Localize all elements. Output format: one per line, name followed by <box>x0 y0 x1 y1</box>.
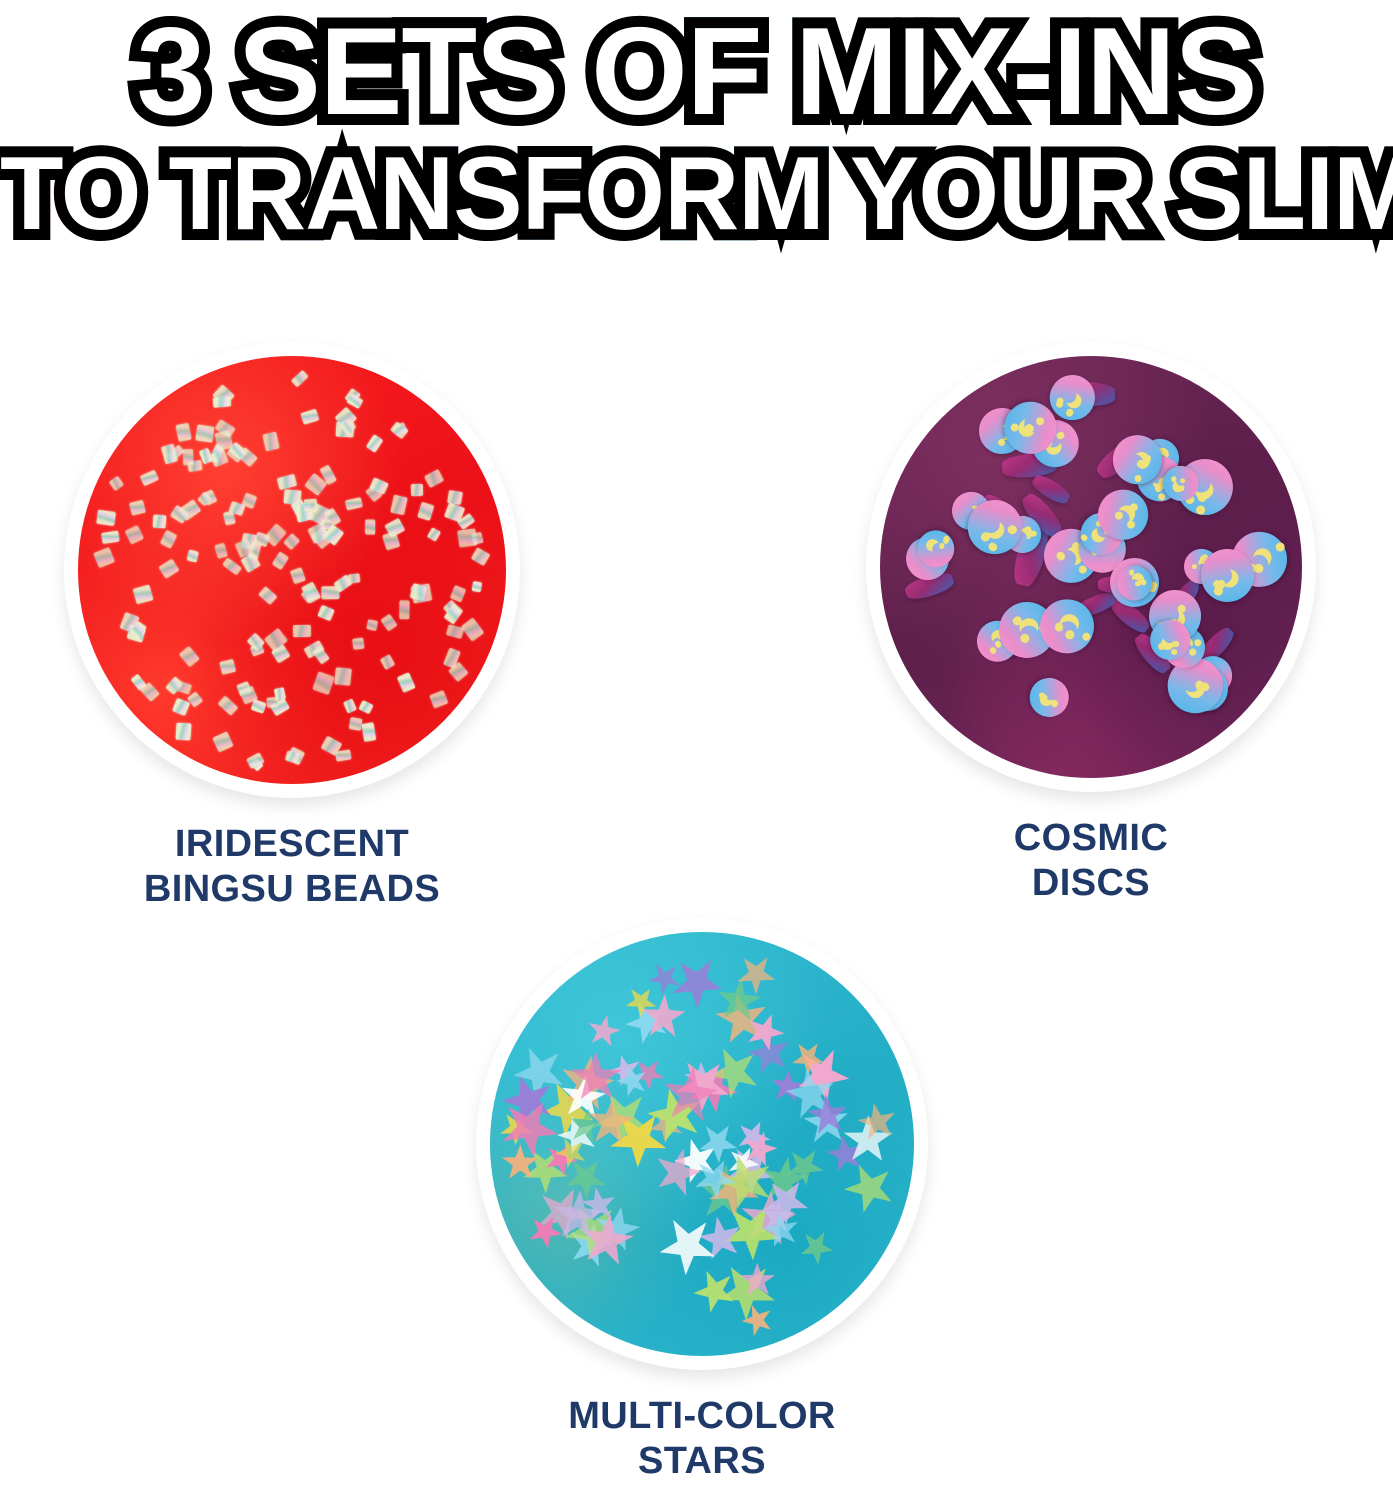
bingsu-bead <box>214 543 227 559</box>
bingsu-bead <box>165 676 183 695</box>
bingsu-bead <box>153 514 167 528</box>
bingsu-bead <box>187 550 199 563</box>
bingsu-bead <box>293 625 312 637</box>
bingsu-bead <box>410 583 432 603</box>
bingsu-bead <box>429 690 448 708</box>
star-icon <box>1171 648 1177 654</box>
bingsu-bead <box>312 672 334 695</box>
star-icon <box>1009 421 1020 432</box>
bingsu-bead <box>472 581 483 592</box>
swatch-label-stars-line1: MULTI-COLOR <box>476 1394 928 1439</box>
star-icon <box>1082 632 1091 641</box>
bingsu-bead <box>259 586 278 604</box>
bingsu-bead <box>352 637 364 649</box>
bingsu-bead <box>159 559 180 580</box>
bingsu-bead <box>390 495 408 515</box>
confetti-star <box>658 1218 717 1277</box>
swatch-cosmic-discs: COSMIC DISCS <box>866 342 1316 906</box>
bingsu-bead <box>334 667 352 686</box>
headline-banner: 3 SETS OF MIX-INS 3 SETS OF MIX-INS TO T… <box>0 0 1393 270</box>
bingsu-bead <box>348 718 362 731</box>
star-icon <box>1128 569 1135 576</box>
bingsu-bead <box>218 695 239 715</box>
slime-sample-purple <box>880 356 1302 778</box>
bingsu-bead <box>93 547 115 568</box>
bingsu-bead <box>301 582 321 604</box>
bingsu-bead <box>470 547 489 566</box>
swatch-label-stars-line2: STARS <box>476 1439 928 1484</box>
star-icon <box>1159 643 1165 649</box>
swatch-multi-color-stars: MULTI-COLOR STARS <box>476 918 928 1484</box>
bingsu-bead <box>359 700 374 714</box>
bingsu-bead <box>417 502 434 521</box>
bingsu-bead <box>424 469 444 488</box>
star-icon <box>1066 408 1076 418</box>
star-icon <box>1140 579 1147 586</box>
swatch-disc-bingsu <box>64 342 520 798</box>
star-icon <box>1178 484 1185 491</box>
bingsu-bead <box>212 731 233 752</box>
star-icon <box>1196 492 1209 505</box>
star-icon <box>1133 474 1144 485</box>
bingsu-bead <box>274 687 287 701</box>
headline-line2: TO TRANSFORM YOUR SLIME <box>0 142 1393 246</box>
bingsu-bead <box>366 619 378 631</box>
bingsu-bead <box>365 434 383 453</box>
bingsu-bead <box>447 490 463 505</box>
bingsu-bead <box>132 584 153 604</box>
bingsu-bead <box>343 698 357 713</box>
bingsu-bead <box>183 449 194 465</box>
star-icon <box>1128 502 1139 513</box>
bingsu-bead <box>283 489 301 505</box>
star-icon <box>1030 530 1038 538</box>
bingsu-bead <box>346 393 364 409</box>
bingsu-bead <box>130 500 146 516</box>
bingsu-bead <box>397 673 415 693</box>
swatch-label-stars: MULTI-COLOR STARS <box>476 1394 928 1484</box>
bingsu-bead <box>345 497 363 510</box>
swatch-disc-cosmic <box>866 342 1316 792</box>
bingsu-bead <box>283 533 300 550</box>
bingsu-bead <box>365 519 375 534</box>
swatch-label-cosmic: COSMIC DISCS <box>866 816 1316 906</box>
confetti-star <box>798 1230 835 1267</box>
slime-sample-red <box>78 356 506 784</box>
bingsu-bead <box>125 525 144 545</box>
star-icon <box>1194 505 1207 518</box>
star-icon <box>1006 523 1018 535</box>
star-icon <box>1051 700 1059 708</box>
bingsu-bead <box>179 646 199 667</box>
bingsu-bead <box>362 722 377 741</box>
star-icon <box>1194 638 1203 647</box>
star-icon <box>1275 542 1285 552</box>
bingsu-bead <box>263 431 280 450</box>
cosmic-disc <box>1150 620 1190 660</box>
bingsu-bead <box>196 424 215 442</box>
swatch-label-bingsu-line1: IRIDESCENT <box>64 822 520 867</box>
bingsu-bead <box>381 614 398 632</box>
bingsu-bead <box>290 567 306 584</box>
swatch-disc-stars <box>476 918 928 1370</box>
headline-line1: 3 SETS OF MIX-INS <box>0 10 1393 134</box>
bingsu-bead <box>96 510 115 526</box>
bingsu-bead <box>160 530 178 549</box>
star-icon <box>1054 623 1063 632</box>
bingsu-bead <box>140 470 159 487</box>
swatch-label-bingsu-line2: BINGSU BEADS <box>64 867 520 912</box>
bingsu-bead <box>176 422 192 442</box>
bingsu-bead <box>460 618 483 642</box>
bingsu-bead <box>399 600 409 619</box>
bingsu-bead <box>390 422 409 440</box>
bingsu-bead <box>219 659 236 675</box>
bingsu-bead <box>222 557 242 575</box>
star-icon <box>987 541 999 553</box>
swatch-label-cosmic-line1: COSMIC <box>866 816 1316 861</box>
bingsu-bead <box>291 370 309 388</box>
confetti-star <box>838 1156 904 1222</box>
bingsu-bead <box>175 723 191 741</box>
bingsu-bead <box>187 691 203 707</box>
swatch-label-cosmic-line2: DISCS <box>866 861 1316 906</box>
confetti-star <box>581 1009 624 1052</box>
bingsu-bead <box>457 528 477 547</box>
star-icon <box>1189 648 1198 657</box>
bingsu-bead <box>109 476 124 491</box>
bingsu-bead <box>102 530 120 544</box>
bingsu-bead <box>276 474 296 490</box>
bingsu-bead <box>213 396 232 407</box>
bingsu-bead <box>427 527 441 541</box>
confetti-star <box>644 957 686 999</box>
cosmic-disc <box>1025 673 1074 722</box>
bingsu-bead <box>285 751 300 764</box>
slime-sample-turquoise <box>490 932 914 1356</box>
bingsu-bead <box>272 551 290 570</box>
bingsu-bead <box>317 605 335 622</box>
swatch-iridescent-bingsu-beads: IRIDESCENT BINGSU BEADS <box>64 342 520 912</box>
star-icon <box>1173 640 1179 646</box>
swatch-label-bingsu: IRIDESCENT BINGSU BEADS <box>64 822 520 912</box>
star-icon <box>1011 616 1022 627</box>
star-icon <box>1079 533 1088 542</box>
bingsu-bead <box>380 654 396 670</box>
bingsu-bead <box>301 408 320 424</box>
bingsu-bead <box>411 484 423 496</box>
